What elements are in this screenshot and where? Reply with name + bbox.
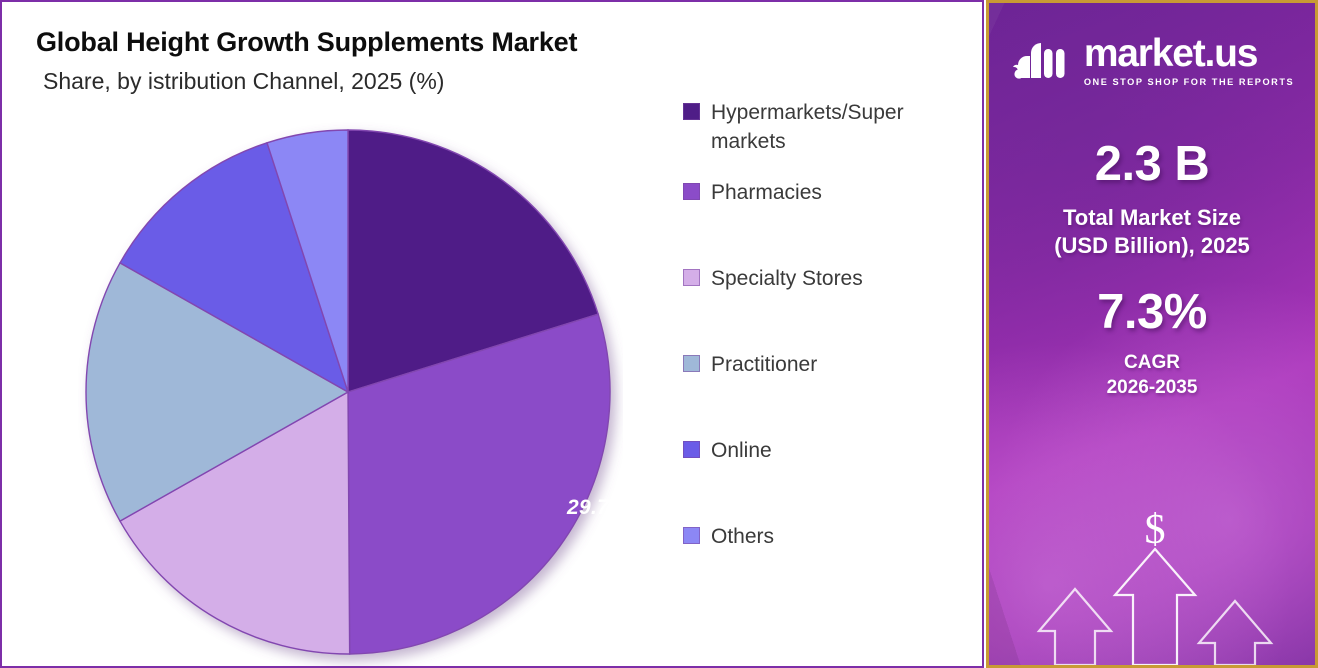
legend-item[interactable]: Practitioner: [683, 351, 973, 380]
cagr-caption-line2: 2026-2035: [989, 376, 1315, 401]
legend-item-label: Hypermarkets/Super markets: [711, 99, 973, 157]
growth-arrows-graphic: $: [989, 495, 1318, 665]
pie-slices: [86, 130, 610, 654]
arrow-up-right-icon: [1199, 601, 1271, 665]
legend-item[interactable]: Hypermarkets/Super markets: [683, 99, 973, 157]
logo: market.us ONE STOP SHOP FOR THE REPORTS: [989, 34, 1315, 87]
cagr-value: 7.3%: [989, 287, 1315, 338]
infographic-page: Global Height Growth Supplements Market …: [0, 0, 1318, 668]
legend-swatch-icon: [683, 103, 700, 120]
legend-item-label: Others: [711, 523, 774, 552]
legend-item-label: Online: [711, 437, 772, 466]
title-block: Global Height Growth Supplements Market …: [36, 26, 936, 96]
brand-panel: market.us ONE STOP SHOP FOR THE REPORTS …: [986, 0, 1318, 668]
chart-subtitle: Share, by istribution Channel, 2025 (%): [43, 68, 936, 96]
legend-item[interactable]: Online: [683, 437, 973, 466]
legend-swatch-icon: [683, 527, 700, 544]
legend-swatch-icon: [683, 441, 700, 458]
legend-item-label: Practitioner: [711, 351, 817, 380]
brand-content: market.us ONE STOP SHOP FOR THE REPORTS …: [989, 3, 1315, 665]
legend-item-label: Pharmacies: [711, 179, 822, 208]
logo-tagline: ONE STOP SHOP FOR THE REPORTS: [1084, 77, 1294, 87]
legend-item[interactable]: Specialty Stores: [683, 265, 973, 294]
legend-swatch-icon: [683, 183, 700, 200]
market-us-logo-icon: [1010, 35, 1072, 87]
cagr-caption-line1: CAGR: [989, 351, 1315, 376]
pie-slice-value-label: 29.7%: [567, 496, 628, 520]
legend-item-label: Specialty Stores: [711, 265, 863, 294]
pie-chart: 29.7%: [78, 122, 623, 667]
arrow-up-left-icon: [1039, 589, 1111, 665]
legend-swatch-icon: [683, 355, 700, 372]
market-size-caption-line2: (USD Billion), 2025: [989, 232, 1315, 260]
arrow-up-center-icon: [1115, 549, 1195, 665]
legend-item[interactable]: Others: [683, 523, 973, 552]
logo-text: market.us ONE STOP SHOP FOR THE REPORTS: [1084, 34, 1294, 87]
market-size-value: 2.3 B: [989, 139, 1315, 190]
cagr-caption: CAGR 2026-2035: [989, 351, 1315, 400]
market-size-caption: Total Market Size (USD Billion), 2025: [989, 204, 1315, 259]
pie-svg: [78, 122, 623, 667]
legend: Hypermarkets/Super marketsPharmaciesSpec…: [683, 99, 973, 578]
chart-panel: Global Height Growth Supplements Market …: [0, 0, 984, 668]
logo-wordmark: market.us: [1084, 34, 1294, 73]
growth-arrows-icon: $: [989, 495, 1318, 665]
legend-swatch-icon: [683, 269, 700, 286]
page-title: Global Height Growth Supplements Market: [36, 26, 936, 58]
market-size-caption-line1: Total Market Size: [989, 204, 1315, 232]
legend-item[interactable]: Pharmacies: [683, 179, 973, 208]
dollar-sign-icon: $: [1145, 507, 1166, 553]
